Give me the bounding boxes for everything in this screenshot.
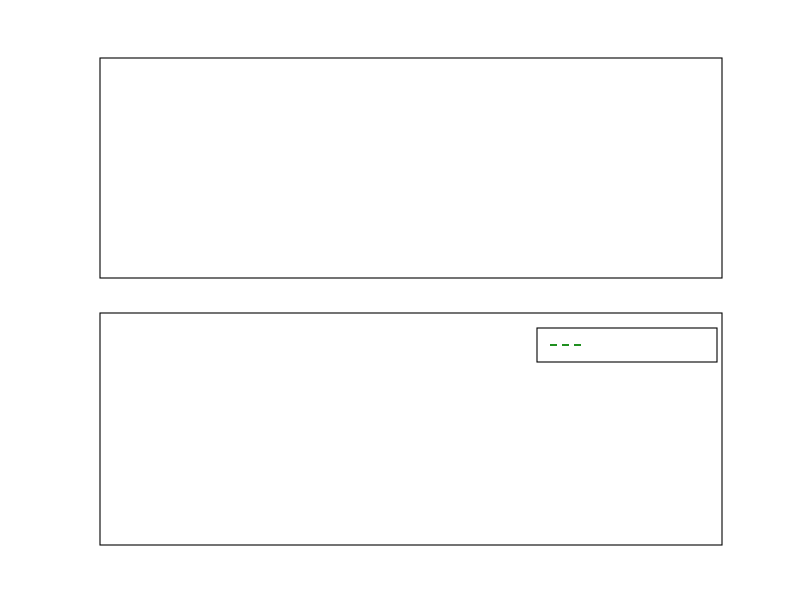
chart-svg xyxy=(0,0,800,600)
top-panel xyxy=(100,58,722,278)
figure-canvas xyxy=(0,0,800,600)
top-plot-background xyxy=(100,58,722,278)
legend[interactable] xyxy=(537,328,717,362)
